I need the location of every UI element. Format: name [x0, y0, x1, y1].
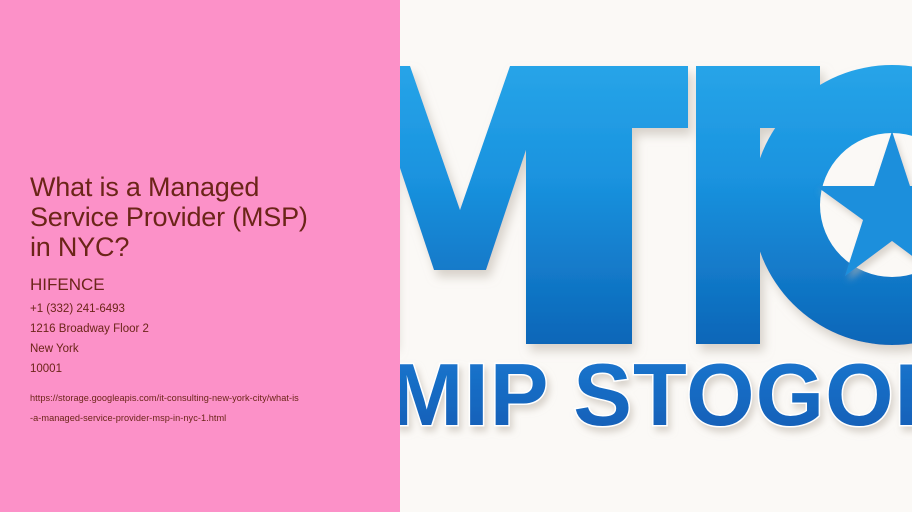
brand-name: HIFENCE [30, 274, 370, 296]
contact-zip: 10001 [30, 359, 370, 379]
poster-root: What is a Managed Service Provider (MSP)… [0, 0, 912, 512]
contact-street: 1216 Broadway Floor 2 [30, 319, 370, 339]
logo-tagline-text: MIP STOGORM [400, 345, 912, 444]
contact-block: +1 (332) 241-6493 1216 Broadway Floor 2 … [30, 299, 370, 379]
contact-phone: +1 (332) 241-6493 [30, 299, 370, 319]
page-title: What is a Managed Service Provider (MSP)… [30, 172, 330, 262]
company-logo-image: MIP STOGORM [400, 0, 912, 512]
source-url-line-2: -a-managed-service-provider-msp-in-nyc-1… [30, 408, 360, 428]
source-url: https://storage.googleapis.com/it-consul… [30, 388, 360, 428]
logo-canvas: MIP STOGORM [400, 0, 912, 512]
info-panel-content: What is a Managed Service Provider (MSP)… [30, 172, 370, 428]
info-panel: What is a Managed Service Provider (MSP)… [0, 0, 400, 512]
logo-image-panel: MIP STOGORM [400, 0, 912, 512]
logo-tagline: MIP STOGORM [400, 345, 912, 444]
source-url-line-1: https://storage.googleapis.com/it-consul… [30, 388, 360, 408]
contact-city: New York [30, 339, 370, 359]
